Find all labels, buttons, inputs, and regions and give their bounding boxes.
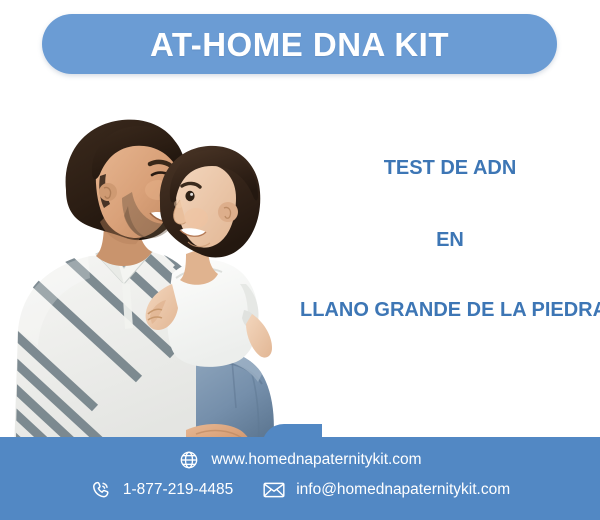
header-banner: AT-HOME DNA KIT: [42, 14, 557, 74]
headline-line-1: TEST DE ADN: [300, 158, 600, 178]
email-contact[interactable]: info@homednapaternitykit.com: [263, 479, 510, 501]
envelope-icon: [263, 479, 285, 501]
phone-contact[interactable]: 1-877-219-4485: [90, 479, 233, 501]
phone-icon: [90, 479, 112, 501]
poster-canvas: TEST DE ADN EN LLANO GRANDE DE LA PIEDRA…: [0, 0, 600, 520]
footer-row-website: www.homednapaternitykit.com: [0, 449, 600, 471]
family-photo: [0, 78, 310, 453]
website-label: www.homednapaternitykit.com: [211, 452, 421, 468]
email-label: info@homednapaternitykit.com: [296, 482, 510, 498]
globe-icon: [178, 449, 200, 471]
headline-line-3: LLANO GRANDE DE LA PIEDRA: [300, 300, 600, 320]
website-contact[interactable]: www.homednapaternitykit.com: [178, 449, 421, 471]
footer-bar: www.homednapaternitykit.com 1-877-219-44…: [0, 437, 600, 520]
phone-label: 1-877-219-4485: [123, 482, 233, 498]
headline-block: TEST DE ADN EN LLANO GRANDE DE LA PIEDRA: [300, 158, 600, 320]
banner-title: AT-HOME DNA KIT: [150, 28, 449, 61]
headline-line-2: EN: [300, 230, 600, 250]
footer-row-phone-email: 1-877-219-4485 info@homednapaternitykit.…: [0, 479, 600, 501]
